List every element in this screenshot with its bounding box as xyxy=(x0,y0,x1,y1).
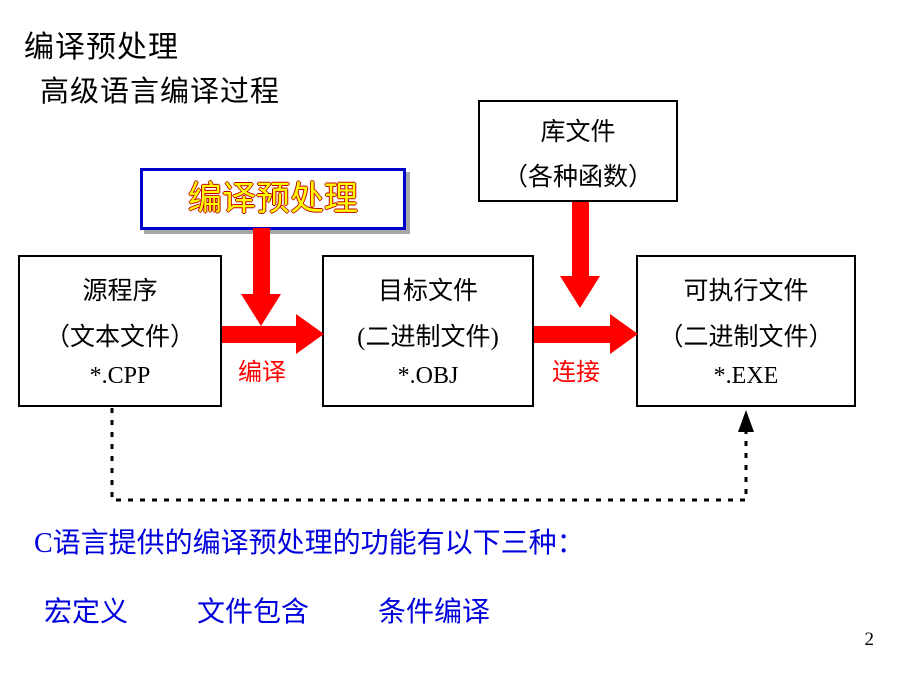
slide-canvas: 编译预处理 高级语言编译过程 编译预处理 库文件 （各种函数） 源程序 （文本文… xyxy=(0,0,900,675)
box-preprocess-label: 编译预处理 xyxy=(143,171,403,229)
feature-conditional-compile: 条件编译 xyxy=(378,590,490,630)
box-library-line-1: 库文件 xyxy=(480,112,676,148)
feature-macro-definition: 宏定义 xyxy=(44,590,128,630)
arrow-link-icon xyxy=(534,312,640,356)
box-object-line-1: 目标文件 xyxy=(324,271,532,307)
bottom-intro-text: C语言提供的编译预处理的功能有以下三种： xyxy=(34,521,585,561)
page-title: 编译预处理 xyxy=(24,22,179,66)
arrow-library-down-icon xyxy=(556,202,604,310)
feature-file-include: 文件包含 xyxy=(197,590,309,630)
diagram-box-source-program: 源程序 （文本文件） *.CPP xyxy=(18,255,222,407)
box-object-line-2: (二进制文件) xyxy=(324,317,532,353)
box-exe-line-3: *.EXE xyxy=(638,363,854,390)
diagram-box-object-file: 目标文件 (二进制文件) *.OBJ xyxy=(322,255,534,407)
box-source-line-1: 源程序 xyxy=(20,271,220,307)
arrow-compile-icon xyxy=(222,312,326,356)
label-link: 连接 xyxy=(552,352,600,387)
box-library-line-2: （各种函数） xyxy=(480,157,676,193)
box-source-line-3: *.CPP xyxy=(20,363,220,390)
arrow-dashed-feedback-icon xyxy=(100,404,760,514)
label-compile: 编译 xyxy=(238,352,286,387)
diagram-box-library-file: 库文件 （各种函数） xyxy=(478,100,678,202)
box-source-line-2: （文本文件） xyxy=(20,317,220,353)
box-exe-line-2: （二进制文件） xyxy=(638,317,854,353)
box-object-line-3: *.OBJ xyxy=(324,363,532,390)
diagram-box-executable-file: 可执行文件 （二进制文件） *.EXE xyxy=(636,255,856,407)
bottom-feature-list: 宏定义 文件包含 条件编译 xyxy=(44,590,490,630)
page-subtitle: 高级语言编译过程 xyxy=(40,68,280,110)
page-number: 2 xyxy=(865,629,875,651)
box-exe-line-1: 可执行文件 xyxy=(638,271,854,307)
diagram-box-preprocess: 编译预处理 xyxy=(140,168,406,230)
